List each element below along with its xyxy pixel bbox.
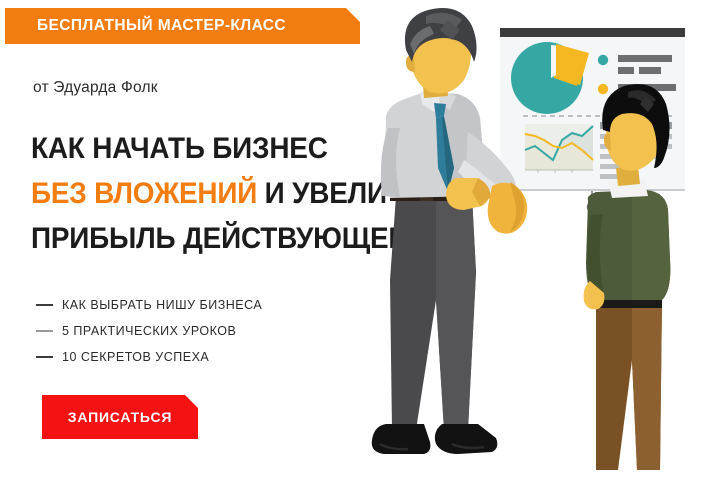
signup-button[interactable]: ЗАПИСАТЬСЯ — [42, 395, 198, 439]
list-item: 5 ПРАКТИЧЕСКИХ УРОКОВ — [36, 318, 262, 344]
dash-icon — [36, 304, 53, 306]
headline-line-2: БЕЗ ВЛОЖЕНИЙ И УВЕЛИЧИТЬ — [31, 171, 403, 216]
signup-button-label: ЗАПИСАТЬСЯ — [68, 409, 172, 425]
illustration — [360, 0, 720, 480]
headline-accent: БЕЗ ВЛОЖЕНИЙ — [31, 177, 257, 210]
headline-line-3: ПРИБЫЛЬ ДЕЙСТВУЮЩЕГО — [31, 216, 403, 261]
ribbon-badge: БЕСПЛАТНЫЙ МАСТЕР-КЛАСС — [5, 8, 360, 44]
feature-list: КАК ВЫБРАТЬ НИШУ БИЗНЕСА 5 ПРАКТИЧЕСКИХ … — [36, 292, 262, 370]
list-item-label: 10 СЕКРЕТОВ УСПЕХА — [62, 350, 209, 364]
list-item: 10 СЕКРЕТОВ УСПЕХА — [36, 344, 262, 370]
ribbon-label: БЕСПЛАТНЫЙ МАСТЕР-КЛАСС — [5, 17, 286, 35]
list-item: КАК ВЫБРАТЬ НИШУ БИЗНЕСА — [36, 292, 262, 318]
area-chart — [525, 124, 593, 173]
author-line: от Эдуарда Фолк — [33, 79, 158, 97]
list-item-label: 5 ПРАКТИЧЕСКИХ УРОКОВ — [62, 324, 236, 338]
list-item-label: КАК ВЫБРАТЬ НИШУ БИЗНЕСА — [62, 298, 262, 312]
promo-banner: БЕСПЛАТНЫЙ МАСТЕР-КЛАСС от Эдуарда Фолк … — [0, 0, 720, 480]
headline-line-1: КАК НАЧАТЬ БИЗНЕС — [31, 126, 403, 171]
dash-icon — [36, 330, 53, 332]
dash-icon — [36, 356, 53, 358]
